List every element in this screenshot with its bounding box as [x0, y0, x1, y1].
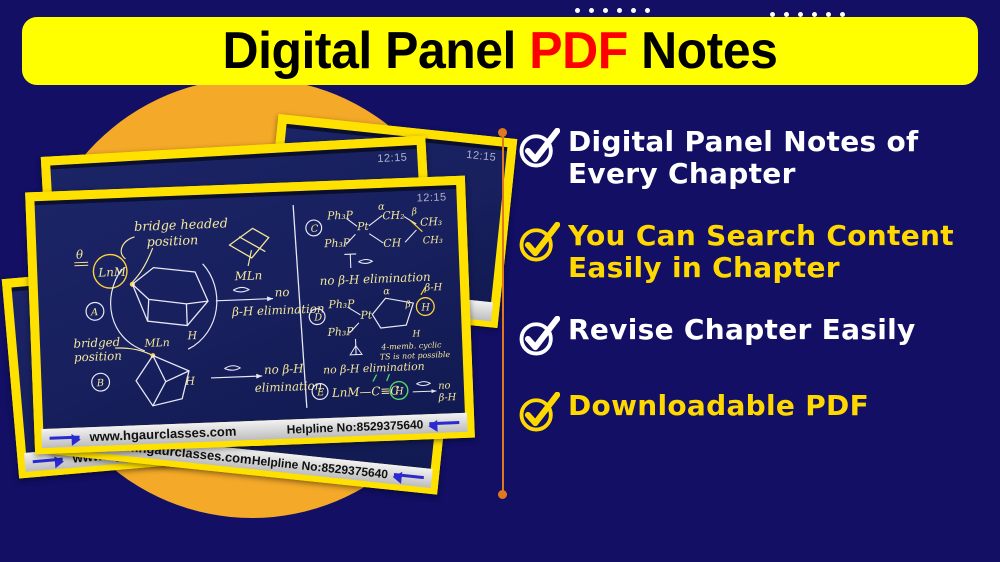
svg-text:α: α	[383, 286, 390, 297]
page-title: Digital Panel PDF Notes	[223, 25, 778, 77]
divider-dot-bottom	[498, 490, 507, 499]
title-banner: Digital Panel PDF Notes	[22, 17, 978, 85]
svg-text:E: E	[316, 387, 325, 398]
decorative-dot	[617, 8, 622, 13]
svg-text:A: A	[90, 307, 99, 318]
feature-item-label: You Can Search ContentEasily in Chapter	[568, 220, 954, 284]
whiteboard-surface: bridge headed position θ LnM A	[34, 185, 464, 429]
photo-main-board[interactable]: bridge headed position θ LnM A	[25, 176, 475, 455]
title-highlight-pdf: PDF	[529, 22, 627, 80]
svg-text:H: H	[420, 302, 430, 313]
svg-text:bridge headed: bridge headed	[134, 216, 228, 235]
feature-item-notes-every-chapter[interactable]: Digital Panel Notes ofEvery Chapter	[516, 126, 994, 190]
arrow-left-icon	[429, 421, 459, 425]
decorative-dot	[575, 8, 580, 13]
svg-text:Ph₃P: Ph₃P	[326, 209, 354, 223]
svg-text:β: β	[404, 300, 411, 310]
arrow-right-icon	[33, 458, 63, 464]
svg-text:H: H	[411, 329, 420, 339]
svg-text:TS is not possible: TS is not possible	[380, 350, 451, 362]
handwriting-ink: bridge headed position θ LnM A	[34, 185, 464, 429]
svg-text:no β-H elimination: no β-H elimination	[323, 360, 425, 377]
svg-text:CH₃: CH₃	[423, 235, 444, 247]
check-circle-icon	[516, 392, 560, 436]
svg-text:β-H: β-H	[423, 282, 442, 294]
svg-text:no: no	[438, 380, 451, 391]
feature-line-1: Digital Panel Notes of	[568, 125, 919, 158]
svg-text:no β-H: no β-H	[264, 361, 305, 377]
feature-item-label: Revise Chapter Easily	[568, 314, 916, 346]
svg-text:CH₂: CH₂	[382, 209, 405, 223]
svg-text:H: H	[394, 386, 404, 397]
svg-text:Ph₃P: Ph₃P	[326, 325, 354, 339]
feature-line-1: You Can Search Content	[568, 219, 954, 252]
svg-text:Pt: Pt	[359, 308, 373, 322]
feature-item-revise-chapter[interactable]: Revise Chapter Easily	[516, 314, 994, 360]
svg-text:θ: θ	[76, 248, 84, 262]
svg-text:B: B	[96, 378, 105, 389]
top-dots-left	[575, 8, 650, 13]
website-label: www.hgaurclasses.com	[89, 424, 236, 445]
check-circle-icon	[516, 316, 560, 360]
svg-text:H: H	[184, 374, 195, 387]
svg-text:MLn: MLn	[233, 268, 262, 283]
svg-text:Ph₃P: Ph₃P	[327, 297, 355, 311]
svg-text:α: α	[378, 201, 385, 212]
feature-item-label: Digital Panel Notes ofEvery Chapter	[568, 126, 919, 190]
photo-timestamp: 12:15	[377, 152, 408, 166]
decorative-dot	[645, 8, 650, 13]
check-circle-icon	[516, 222, 560, 266]
svg-text:bridged: bridged	[73, 335, 121, 351]
svg-text:D: D	[313, 312, 322, 323]
title-part-before: Digital Panel	[223, 22, 530, 80]
photo-timestamp: 12:15	[416, 191, 446, 204]
feature-item-label: Downloadable PDF	[568, 390, 869, 422]
svg-text:H: H	[186, 329, 197, 342]
svg-text:MLn: MLn	[143, 336, 170, 350]
feature-line-2: Every Chapter	[568, 157, 796, 190]
svg-text:position: position	[74, 349, 122, 365]
vertical-divider	[502, 132, 504, 494]
svg-text:CH: CH	[383, 236, 402, 250]
svg-text:LnM: LnM	[97, 265, 127, 280]
feature-item-search-content[interactable]: You Can Search ContentEasily in Chapter	[516, 220, 994, 284]
svg-text:no: no	[275, 285, 290, 300]
check-circle-icon	[516, 392, 560, 436]
check-circle-icon	[516, 222, 560, 266]
decorative-dot	[603, 8, 608, 13]
svg-text:β-H: β-H	[437, 392, 456, 404]
photo-timestamp: 12:15	[466, 149, 497, 164]
svg-text:β: β	[411, 207, 418, 217]
check-circle-icon	[516, 128, 560, 172]
svg-text:CH₃: CH₃	[420, 215, 443, 229]
check-circle-icon	[516, 128, 560, 172]
check-circle-icon	[516, 316, 560, 360]
svg-text:4-memb. cyclic: 4-memb. cyclic	[380, 340, 442, 351]
arrow-right-icon	[50, 436, 80, 440]
svg-text:no β-H elimination: no β-H elimination	[319, 270, 430, 288]
svg-text:Pt: Pt	[356, 220, 370, 234]
feature-line-2: Easily in Chapter	[568, 251, 840, 284]
feature-list: Digital Panel Notes ofEvery Chapter You …	[516, 126, 994, 466]
title-part-after: Notes	[628, 22, 778, 80]
decorative-dot	[589, 8, 594, 13]
feature-line-1: Revise Chapter Easily	[568, 313, 916, 346]
arrow-left-icon	[394, 473, 424, 479]
divider-dot-top	[498, 128, 507, 137]
svg-text:C: C	[311, 224, 319, 235]
svg-text:elimination: elimination	[255, 378, 323, 395]
svg-text:LnM—C≡C: LnM—C≡C	[331, 383, 400, 400]
svg-text:position: position	[146, 233, 198, 250]
svg-text:β-H elimination: β-H elimination	[231, 301, 325, 319]
decorative-dot	[631, 8, 636, 13]
feature-item-downloadable-pdf[interactable]: Downloadable PDF	[516, 390, 994, 436]
helpline-label: Helpline No:8529375640	[286, 417, 423, 436]
promo-poster: Digital Panel PDF Notes 12:15 www.hgaurc…	[0, 0, 1000, 562]
svg-text:Ph₃P: Ph₃P	[323, 236, 351, 250]
feature-line-1: Downloadable PDF	[568, 389, 869, 422]
